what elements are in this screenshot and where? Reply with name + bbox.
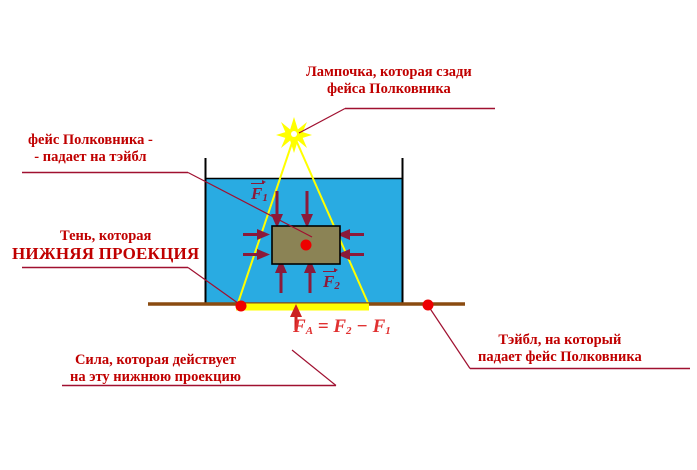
face-label-line1: фейс Полковника - <box>28 132 153 148</box>
lamp-label: Лампочка, которая сзади фейса Полковника <box>306 64 472 98</box>
formula-term1: F <box>333 316 346 337</box>
vector-subscript-f1: 1 <box>262 192 268 204</box>
force-label: Сила, которая действует на эту нижнюю пр… <box>70 352 241 386</box>
table-label-line1: Тэйбл, на который <box>498 332 621 348</box>
face-label: фейс Полковника - - падает на тэйбл <box>28 132 153 166</box>
vector-arrowhead-f1 <box>262 180 266 184</box>
vector-subscript-f2: 2 <box>334 280 340 292</box>
buoyancy-formula: FA = F2 − F1 <box>293 316 391 338</box>
anchor-dot-shadow <box>236 301 247 312</box>
figure-canvas: Лампочка, которая сзади фейса Полковника… <box>0 0 697 470</box>
vector-symbol-f2: F <box>323 272 334 291</box>
vector-label-f2: F2 <box>323 272 340 292</box>
formula-term1-sub: 2 <box>346 325 352 337</box>
lamp-label-line2: фейса Полковника <box>306 81 472 98</box>
lamp-label-line1: Лампочка, которая сзади <box>306 64 472 80</box>
leader-diagonal-force <box>292 350 336 386</box>
leader-diagonal-table <box>429 307 470 369</box>
vector-label-f1: F1 <box>251 184 268 204</box>
formula-term2-sub: 1 <box>385 325 391 337</box>
table-label: Тэйбл, на который падает фейс Полковника <box>478 332 642 366</box>
anchor-dot-table <box>423 300 434 311</box>
force-label-line2: на эту нижнюю проекцию <box>70 369 241 386</box>
leader-diagonal-lamp <box>299 109 345 134</box>
formula-lhs: F <box>293 316 306 337</box>
force-label-line1: Сила, которая действует <box>75 352 236 368</box>
formula-equals: = <box>318 316 329 337</box>
shadow-label-line2: НИЖНЯЯ ПРОЕКЦИЯ <box>12 245 199 262</box>
light-source-icon <box>276 117 312 153</box>
formula-term2: F <box>373 316 386 337</box>
formula-lhs-sub: A <box>306 325 313 337</box>
vector-arrowhead-f2 <box>334 268 338 272</box>
vector-symbol-f1: F <box>251 184 262 203</box>
face-label-line2: - падает на тэйбл <box>28 149 153 166</box>
table-label-line2: падает фейс Полковника <box>478 349 642 366</box>
formula-minus: − <box>356 316 368 337</box>
shadow-label: Тень, которая НИЖНЯЯ ПРОЕКЦИЯ <box>12 228 199 262</box>
anchor-dot-block-center <box>301 240 312 251</box>
shadow-label-line1: Тень, которая <box>12 228 199 245</box>
